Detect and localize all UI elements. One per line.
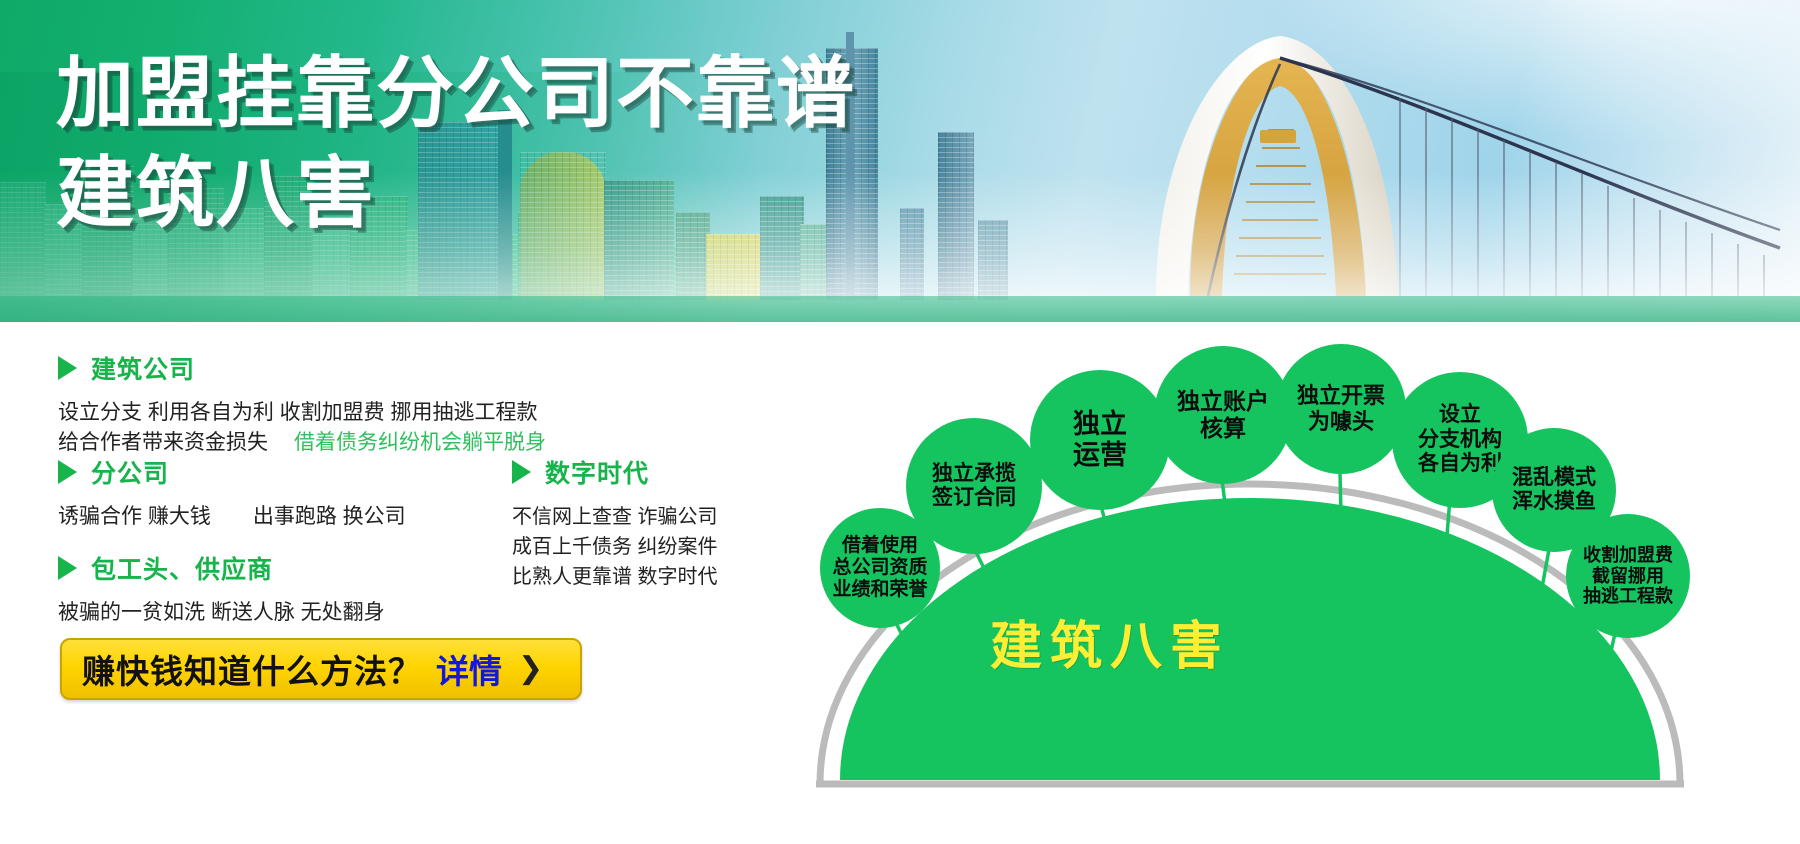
cta-button[interactable]: 赚快钱知道什么方法？ 详情 ❯ [60, 638, 582, 700]
section-body: 被骗的一贫如洗 断送人脉 无处翻身 [58, 598, 385, 628]
triangle-right-icon [58, 356, 77, 380]
bubble-line: 截留挪用 [1583, 566, 1673, 587]
body-line: 被骗的一贫如洗 断送人脉 无处翻身 [58, 598, 385, 628]
hero-headline-primary: 加盟挂靠分公司不靠谱 [56, 54, 856, 132]
triangle-right-icon [58, 460, 77, 484]
section-header: 数字时代 [512, 454, 718, 490]
bubble-line: 独立承揽 [932, 462, 1016, 486]
bubble-line: 运营 [1073, 440, 1127, 471]
green-ground-strip [0, 296, 1800, 322]
section-body: 设立分支 利用各自为利 收割加盟费 挪用抽逃工程款 给合作者带来资金损失借着债务… [58, 398, 546, 458]
bubble-line: 混乱模式 [1512, 466, 1596, 490]
section-title: 包工头、供应商 [91, 550, 273, 586]
body-line: 比熟人更靠谱 数字时代 [512, 562, 718, 592]
bubble-line: 总公司资质 [832, 557, 927, 579]
left-content-column: 建筑公司 设立分支 利用各自为利 收割加盟费 挪用抽逃工程款 给合作者带来资金损… [0, 322, 760, 844]
triangle-right-icon [58, 556, 77, 580]
body-line: 不信网上查查 诈骗公司 [512, 502, 718, 532]
body-line-accent: 借着债务纠纷机会躺平脱身 [294, 431, 546, 454]
bubble-line: 签订合同 [932, 486, 1016, 510]
body-line: 诱骗合作 赚大钱 出事跑路 换公司 [58, 502, 406, 532]
bubble-independent-account[interactable]: 独立账户 核算 [1154, 346, 1292, 484]
bubble-line: 借着使用 [832, 535, 927, 557]
bubble-line: 独立 [1073, 409, 1127, 440]
bubble-line: 分支机构 [1418, 428, 1502, 452]
section-contractor-supplier: 包工头、供应商 被骗的一贫如洗 断送人脉 无处翻身 [58, 550, 385, 628]
body-line-text: 给合作者带来资金损失 [58, 431, 268, 454]
section-header: 分公司 [58, 454, 406, 490]
hero-headings: 加盟挂靠分公司不靠谱 建筑八害 [56, 54, 856, 232]
bubble-line: 核算 [1177, 415, 1269, 442]
cta-detail-link[interactable]: 详情 [436, 645, 502, 693]
bubble-line: 各自为利 [1418, 452, 1502, 476]
cta-question-label: 赚快钱知道什么方法？ [82, 645, 422, 693]
eight-harms-diagram: 借着使用 总公司资质 业绩和荣誉 独立承揽 签订合同 独立 运营 独立账户 核算… [760, 322, 1800, 844]
body-line: 设立分支 利用各自为利 收割加盟费 挪用抽逃工程款 [58, 398, 546, 428]
section-digital-era: 数字时代 不信网上查查 诈骗公司 成百上千债务 纠纷案件 比熟人更靠谱 数字时代 [512, 454, 718, 592]
hero-banner: 加盟挂靠分公司不靠谱 建筑八害 [0, 0, 1800, 322]
bubble-line: 设立 [1418, 403, 1502, 427]
bubble-independent-invoicing[interactable]: 独立开票 为噱头 [1276, 344, 1406, 474]
bubble-independent-contracting[interactable]: 独立承揽 签订合同 [906, 418, 1042, 554]
hero-headline-secondary: 建筑八害 [56, 154, 856, 232]
section-header: 建筑公司 [58, 350, 546, 386]
bubble-line: 收割加盟费 [1583, 545, 1673, 566]
bubble-line: 独立开票 [1297, 383, 1385, 409]
section-title: 分公司 [91, 454, 169, 490]
section-construction-company: 建筑公司 设立分支 利用各自为利 收割加盟费 挪用抽逃工程款 给合作者带来资金损… [58, 350, 546, 458]
dome-center-label: 建筑八害 [990, 604, 1230, 679]
triangle-right-icon [512, 460, 531, 484]
section-title: 数字时代 [545, 454, 649, 490]
section-branch-company: 分公司 诱骗合作 赚大钱 出事跑路 换公司 [58, 454, 406, 532]
body-line: 成百上千债务 纠纷案件 [512, 532, 718, 562]
bubble-harvest-franchise-fee[interactable]: 收割加盟费 截留挪用 抽逃工程款 [1566, 514, 1690, 638]
bubble-independent-operation[interactable]: 独立 运营 [1030, 370, 1170, 510]
bubble-line: 抽逃工程款 [1583, 586, 1673, 607]
bubble-line: 业绩和荣誉 [832, 579, 927, 601]
section-body: 不信网上查查 诈骗公司 成百上千债务 纠纷案件 比熟人更靠谱 数字时代 [512, 502, 718, 592]
section-body: 诱骗合作 赚大钱 出事跑路 换公司 [58, 502, 406, 532]
bubble-line: 浑水摸鱼 [1512, 490, 1596, 514]
section-header: 包工头、供应商 [58, 550, 385, 586]
chevron-right-icon: ❯ [518, 654, 543, 684]
bubble-line: 独立账户 [1177, 388, 1269, 415]
bubble-line: 为噱头 [1297, 409, 1385, 435]
section-title: 建筑公司 [91, 350, 195, 386]
